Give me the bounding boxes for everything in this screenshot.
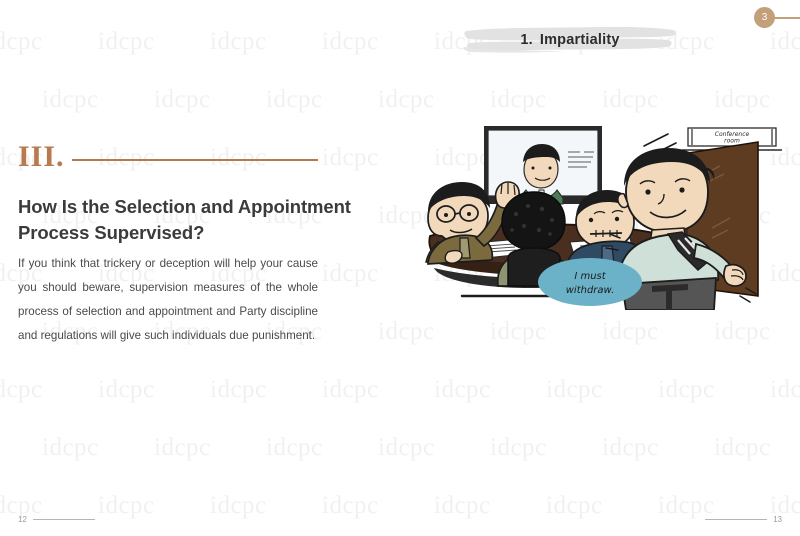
page-number-right: 13 xyxy=(773,515,782,524)
right-page: 3 1. Impartiality Conference room xyxy=(400,0,800,536)
speech-bubble-line2: withdraw. xyxy=(566,285,615,296)
page-number-left: 12 xyxy=(18,515,27,524)
page-title: How Is the Selection and Appointment Pro… xyxy=(18,194,363,245)
footer-rule-right xyxy=(705,519,767,520)
section-number: 1. xyxy=(520,32,533,48)
chapter-marker: III. xyxy=(18,142,318,172)
footer-right: 13 xyxy=(705,515,782,524)
section-title: Impartiality xyxy=(540,32,620,48)
speech-bubble: I must withdraw. xyxy=(538,258,642,306)
footer-left: 12 xyxy=(18,515,95,524)
section-heading-label: 1. Impartiality xyxy=(460,22,680,58)
speech-bubble-line1: I must xyxy=(574,271,606,282)
section-badge: 3 xyxy=(754,7,775,28)
left-page: III. How Is the Selection and Appointmen… xyxy=(0,0,400,536)
section-badge-line xyxy=(774,17,800,19)
body-paragraph: If you think that trickery or deception … xyxy=(18,252,318,348)
footer-rule-left xyxy=(33,519,95,520)
chapter-rule-divider xyxy=(72,159,318,161)
chapter-numeral: III. xyxy=(18,142,65,172)
conference-room-withdrawal-illustration: Conference room xyxy=(420,110,800,310)
section-heading: 1. Impartiality xyxy=(460,22,680,58)
section-badge-group: 3 xyxy=(754,4,800,32)
door-sign-line2: room xyxy=(724,138,740,145)
